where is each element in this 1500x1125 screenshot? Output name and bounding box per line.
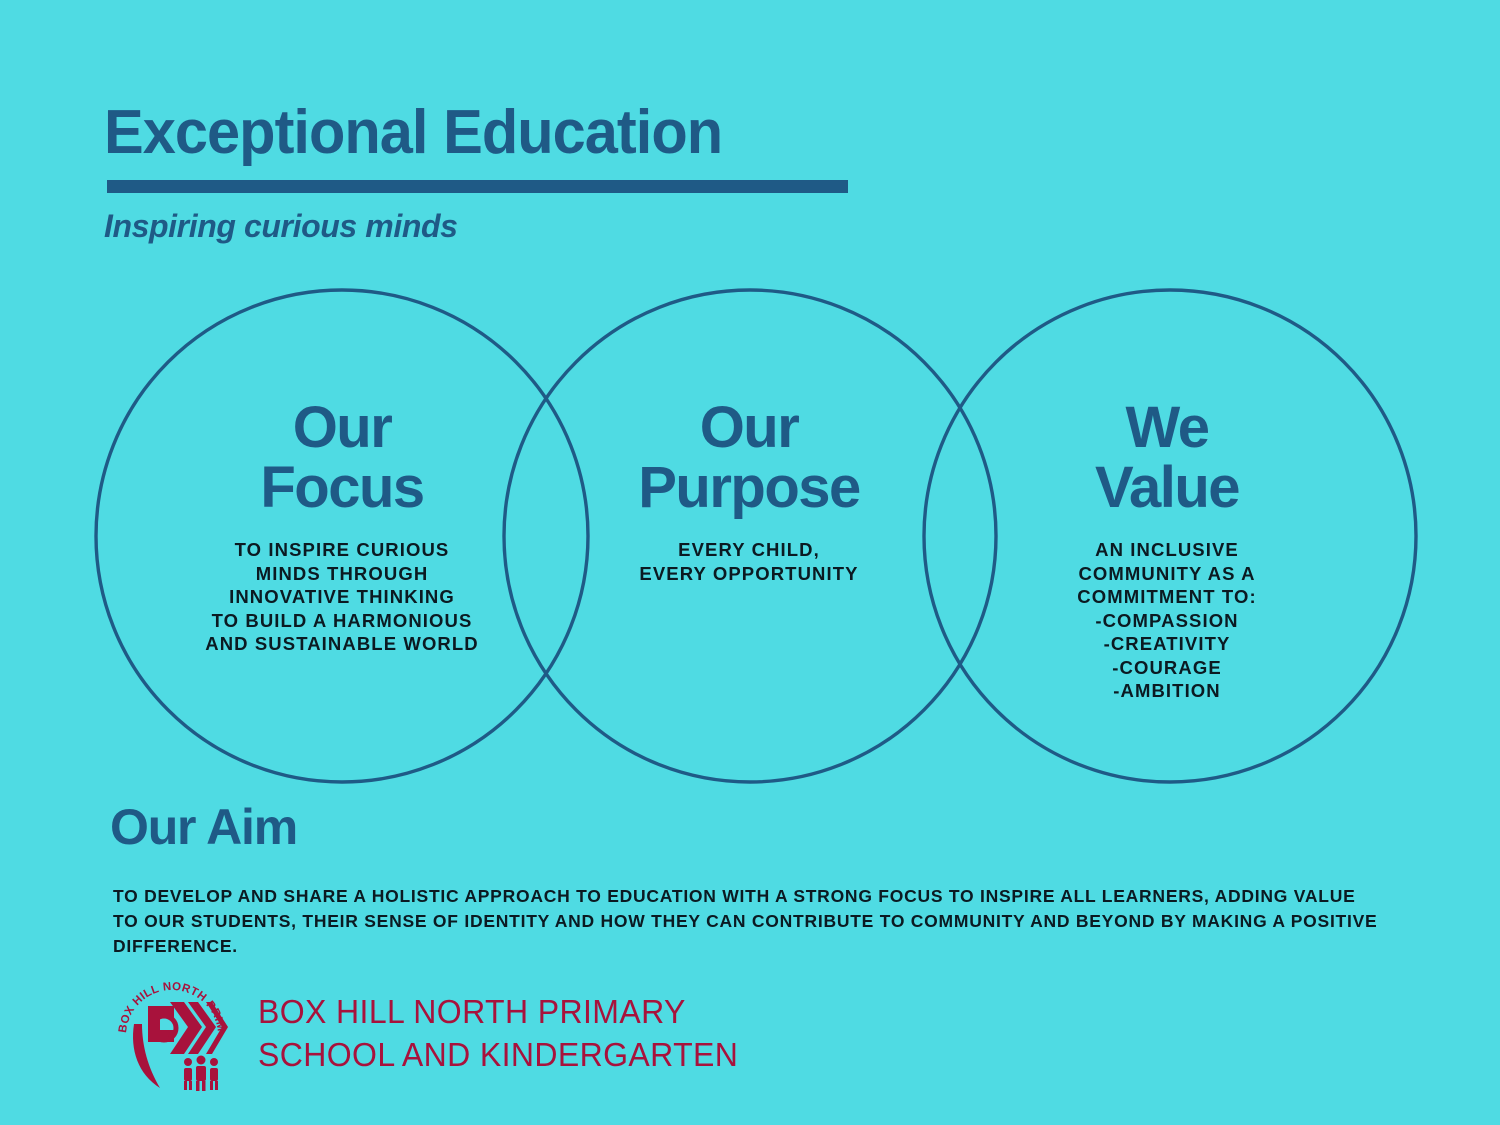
venn-lobe-purpose-title: Our Purpose <box>514 398 984 518</box>
school-name-text: BOX HILL NORTH PRIMARY SCHOOL AND KINDER… <box>258 990 738 1076</box>
poster-canvas: Exceptional Education Inspiring curious … <box>0 0 1500 1125</box>
venn-lobe-purpose-body: EVERY CHILD, EVERY OPPORTUNITY <box>514 538 984 585</box>
aim-body-text: TO DEVELOP AND SHARE A HOLISTIC APPROACH… <box>113 884 1383 959</box>
venn-lobe-value-title: We Value <box>932 398 1402 518</box>
venn-lobe-value-body: AN INCLUSIVE COMMUNITY AS A COMMITMENT T… <box>932 538 1402 703</box>
page-subtitle: Inspiring curious minds <box>104 206 458 246</box>
venn-lobe-value: We Value AN INCLUSIVE COMMUNITY AS A COM… <box>932 398 1402 703</box>
aim-heading: Our Aim <box>110 798 297 856</box>
venn-lobe-focus-body: TO INSPIRE CURIOUS MINDS THROUGH INNOVAT… <box>107 538 577 656</box>
school-crest-icon: BOX HILL NORTH PRIMARY SCHOOL <box>108 972 236 1094</box>
title-underline-rule <box>107 180 848 193</box>
venn-lobe-focus-title: Our Focus <box>107 398 577 518</box>
venn-lobe-focus: Our Focus TO INSPIRE CURIOUS MINDS THROU… <box>107 398 577 656</box>
page-title: Exceptional Education <box>104 96 722 170</box>
venn-lobe-purpose: Our Purpose EVERY CHILD, EVERY OPPORTUNI… <box>514 398 984 585</box>
footer-branding: BOX HILL NORTH PRIMARY SCHOOL <box>108 972 753 1094</box>
